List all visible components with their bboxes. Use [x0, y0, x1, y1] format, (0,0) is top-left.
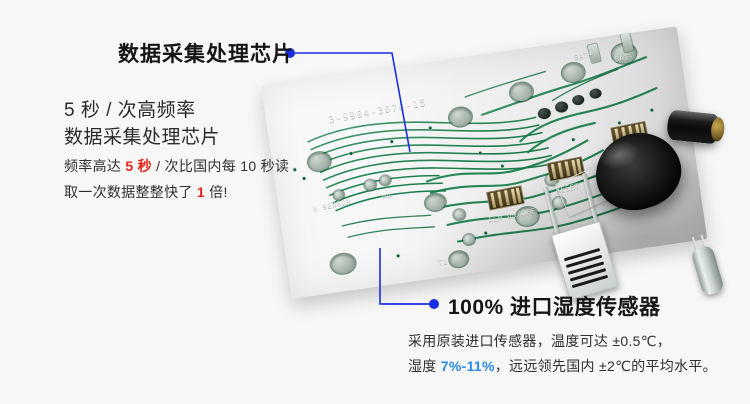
thermistor-can	[687, 235, 724, 297]
product-feature-banner: 3-9904-3070-15 H SENSOR HU T1 ALM ON/OFF…	[0, 0, 750, 404]
top-body-line1-pre: 频率高达	[64, 158, 125, 174]
top-body-line1-emphasis: 5 秒	[125, 158, 152, 174]
bottom-body-line2: 湿度 7%-11%，远远领先国内 ±2℃的平均水平。	[408, 356, 717, 376]
top-body-line2-post: 倍!	[205, 184, 228, 200]
bottom-body-line2-post: ，远远领先国内 ±2℃的平均水平。	[495, 358, 717, 374]
bottom-body-line2-pre: 湿度	[408, 358, 441, 374]
bottom-body-line1: 采用原装进口传感器，温度可达 ±0.5℃，	[408, 331, 671, 351]
top-heading-line1: 5 秒 / 次高频率	[64, 95, 196, 122]
top-body-line2: 取一次数据整整快了 1 倍!	[64, 182, 228, 202]
electrolytic-capacitor	[666, 109, 729, 145]
top-body-line1: 频率高达 5 秒 / 次比国内每 10 秒读	[64, 156, 289, 176]
bottom-body-line2-emphasis: 7%-11%	[441, 358, 495, 374]
top-heading-line2: 数据采集处理芯片	[64, 122, 220, 149]
bottom-callout-label: 100% 进口湿度传感器	[448, 291, 661, 321]
top-callout-label: 数据采集处理芯片	[118, 38, 294, 68]
circuit-board-photo: 3-9904-3070-15 H SENSOR HU T1 ALM ON/OFF…	[261, 26, 711, 323]
top-body-line2-pre: 取一次数据整整快了	[64, 184, 197, 200]
top-body-line2-emphasis: 1	[197, 184, 205, 200]
top-body-line1-post: / 次比国内每 10 秒读	[152, 158, 289, 174]
